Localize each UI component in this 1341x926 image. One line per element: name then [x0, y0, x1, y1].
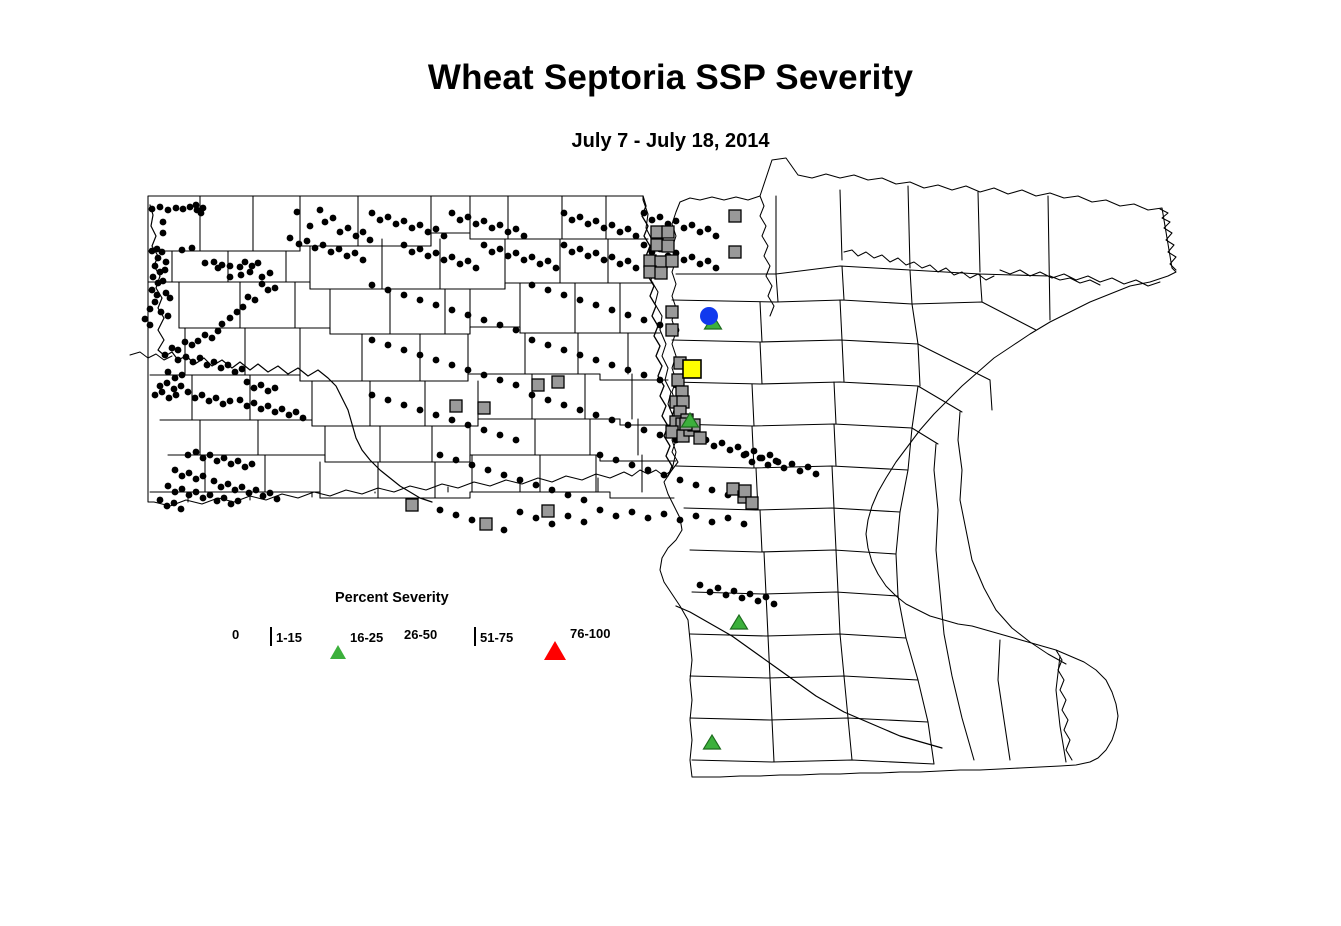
severity-points-26-50 [700, 307, 718, 325]
red-triangle-icon [544, 624, 566, 642]
state-county-map [0, 0, 1341, 926]
gray-square-icon [270, 628, 272, 646]
legend-label-76-100: 76-100 [570, 627, 610, 640]
legend-item-0[interactable]: 0 [228, 628, 239, 641]
legend-item-76-100[interactable]: 76-100 [544, 624, 610, 642]
severity-points-51-75 [683, 360, 701, 378]
yellow-square-icon [474, 628, 476, 646]
legend-label-51-75: 51-75 [480, 631, 513, 644]
legend-label-1-15: 1-15 [276, 631, 302, 644]
legend-item-51-75[interactable]: 51-75 [474, 628, 513, 646]
map-figure: Wheat Septoria SSP Severity July 7 - Jul… [0, 0, 1341, 926]
severity-points-1-15 [406, 210, 758, 530]
legend-item-26-50[interactable]: 26-50 [400, 628, 437, 641]
legend-item-16-25[interactable]: 16-25 [330, 628, 383, 646]
green-triangle-icon [330, 628, 346, 646]
legend-label-26-50: 26-50 [404, 628, 437, 641]
map-legend: Percent Severity 0 1-15 16-25 26-50 51-7… [222, 590, 622, 670]
legend-label-16-25: 16-25 [350, 631, 383, 644]
legend-item-1-15[interactable]: 1-15 [270, 628, 302, 646]
map-canvas [0, 0, 1341, 926]
severity-points-16-25 [682, 315, 748, 749]
legend-title: Percent Severity [222, 590, 522, 606]
legend-label-0: 0 [232, 628, 239, 641]
